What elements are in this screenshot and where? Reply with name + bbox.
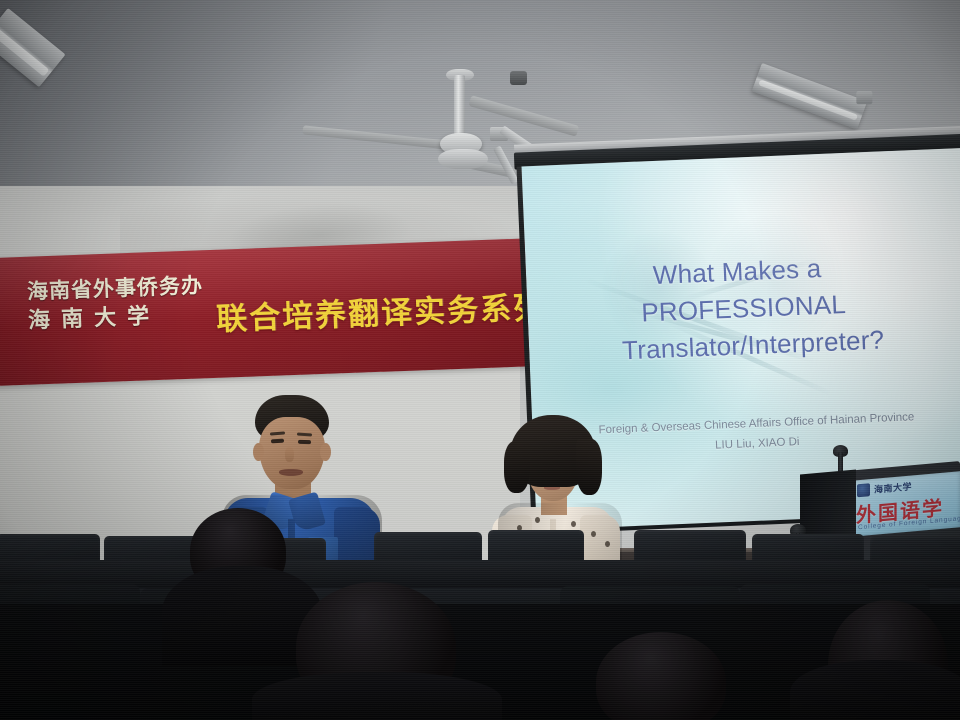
man-eye — [298, 440, 311, 444]
man-mouth — [279, 469, 303, 476]
podium-university-name: 海南大学 — [874, 479, 912, 495]
woman-hair-side — [504, 441, 530, 493]
university-logo-icon — [857, 483, 870, 497]
slide-title: What Makes a PROFESSIONAL Translator/Int… — [526, 244, 960, 373]
lecture-hall-photo: 海南省外事侨务办 海南大学 联合培养翻译实务系列讲座 What Makes a … — [0, 0, 960, 720]
man-eye — [271, 439, 284, 444]
woman-hair-side — [576, 439, 602, 495]
man-ear — [253, 443, 264, 461]
audience-shoulders — [790, 660, 960, 720]
man-nose — [285, 447, 294, 462]
audience-shoulders — [252, 672, 502, 720]
podium-sign: 海南大学 外国语学 College of Foreign Languages — [852, 471, 960, 536]
man-ear — [320, 443, 331, 461]
red-event-banner: 海南省外事侨务办 海南大学 联合培养翻译实务系列讲座 — [0, 238, 546, 386]
